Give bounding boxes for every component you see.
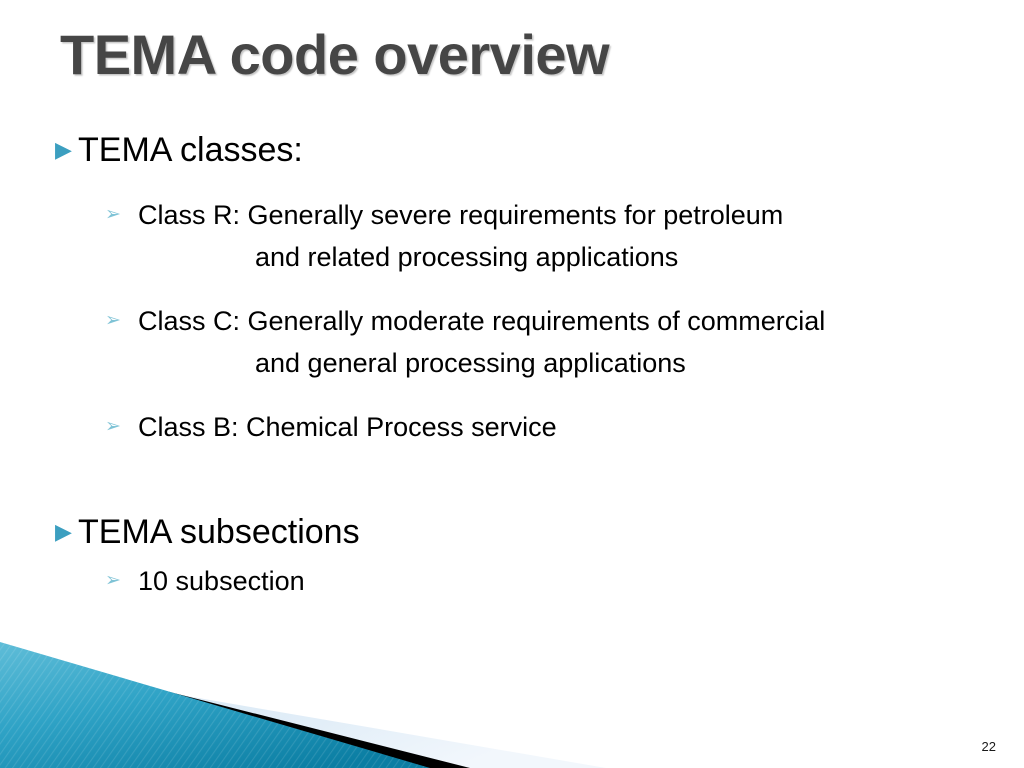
bullet-level2-text: Class B: Chemical Process service (138, 406, 557, 448)
bullet-level2-line1: 10 subsection (138, 566, 305, 596)
bullet-level2-line1: Class B: Chemical Process service (138, 412, 557, 442)
bullet-level2-text: Class C: Generally moderate requirements… (138, 300, 825, 384)
decor-black-stripe (0, 649, 470, 768)
bullet-level2-text: Class R: Generally severe requirements f… (138, 194, 783, 278)
arrowhead-bullet-icon: ➢ (105, 560, 138, 602)
bullet-level2-class-r: ➢ Class R: Generally severe requirements… (0, 194, 1024, 278)
triangle-bullet-icon: ▶ (52, 510, 78, 554)
bullet-level2-text: 10 subsection (138, 560, 305, 602)
arrowhead-bullet-icon: ➢ (105, 406, 138, 448)
decor-pale-blue-band (0, 664, 606, 768)
bullet-level2-class-b: ➢ Class B: Chemical Process service (0, 406, 1024, 448)
bullet-level1-tema-subsections: ▶ TEMA subsections (0, 510, 1024, 554)
bullet-level2-line2: and related processing applications (138, 236, 783, 278)
spacer (0, 172, 1024, 194)
bullet-level1-tema-classes: ▶ TEMA classes: (0, 128, 1024, 172)
bullet-level2-subsection-count: ➢ 10 subsection (0, 560, 1024, 602)
spacer (0, 278, 1024, 300)
bullet-level2-line2: and general processing applications (138, 342, 825, 384)
bullet-level1-label: TEMA classes: (78, 128, 303, 172)
decorative-bands-svg (0, 628, 1024, 768)
spacer (0, 448, 1024, 510)
bullet-level1-label: TEMA subsections (78, 510, 360, 554)
arrowhead-bullet-icon: ➢ (105, 300, 138, 342)
page-number: 22 (982, 739, 996, 754)
bullet-level2-line1: Class R: Generally severe requirements f… (138, 200, 783, 230)
decor-teal-texture (0, 642, 430, 768)
triangle-bullet-icon: ▶ (52, 128, 78, 172)
bullet-level2-line1: Class C: Generally moderate requirements… (138, 306, 825, 336)
page-title: TEMA code overview (60, 24, 609, 86)
slide-body: ▶ TEMA classes: ➢ Class R: Generally sev… (0, 128, 1024, 602)
bullet-level2-class-c: ➢ Class C: Generally moderate requiremen… (0, 300, 1024, 384)
spacer (0, 384, 1024, 406)
arrowhead-bullet-icon: ➢ (105, 194, 138, 236)
slide: TEMA code overview ▶ TEMA classes: ➢ Cla… (0, 0, 1024, 768)
decor-teal-triangle (0, 642, 430, 768)
decorative-corner-graphic (0, 628, 1024, 768)
